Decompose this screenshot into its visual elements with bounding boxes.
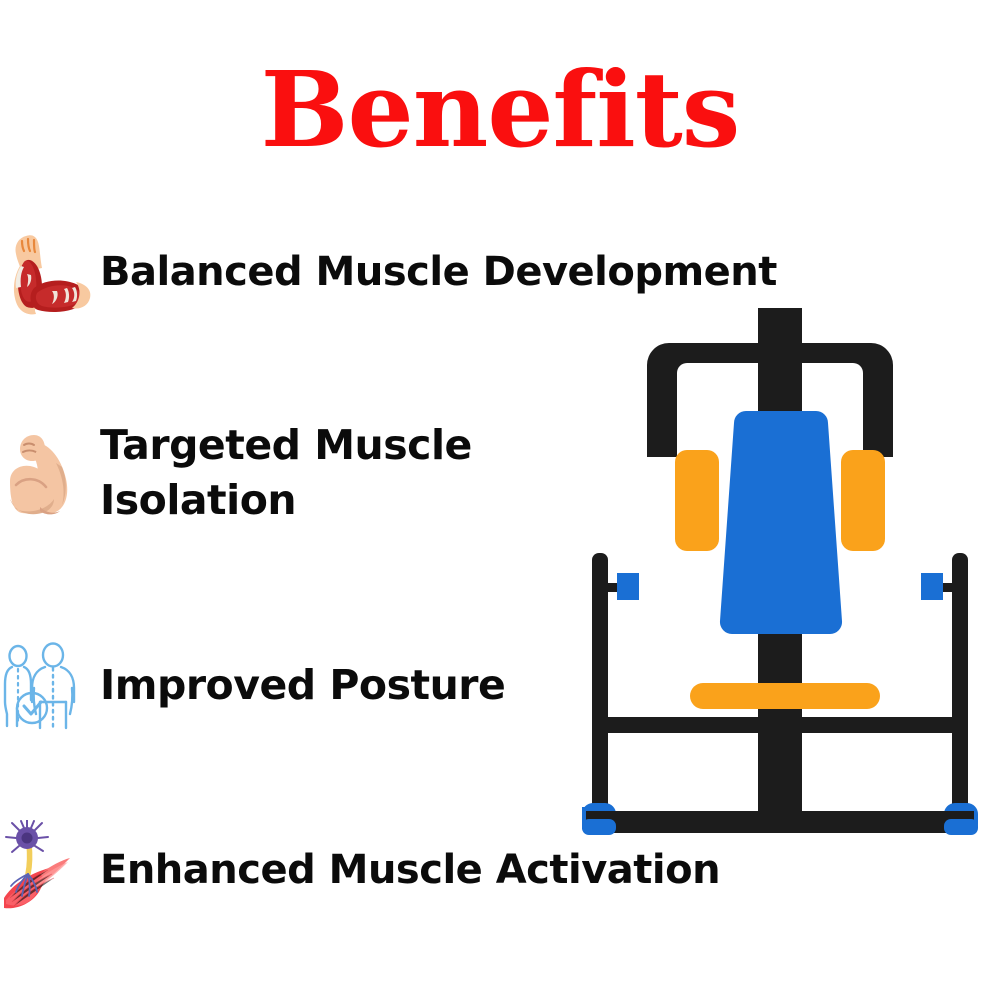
benefit-label: Targeted Muscle Isolation — [100, 418, 472, 529]
seated-row-gym-machine — [560, 295, 1000, 845]
machine-backrest-pad — [720, 411, 842, 634]
benefit-label: Balanced Muscle Development — [100, 251, 777, 293]
machine-left-peg — [617, 573, 639, 600]
flexed-biceps-icon — [0, 423, 100, 523]
benefit-label: Improved Posture — [100, 664, 505, 707]
machine-right-grip — [841, 450, 885, 551]
anatomical-arm-muscle-icon — [0, 222, 100, 322]
machine-right-peg — [921, 573, 943, 600]
benefit-label: Enhanced Muscle Activation — [100, 849, 720, 891]
machine-right-upright — [952, 553, 968, 818]
page-title: Benefits — [0, 58, 1000, 162]
benefit-item-targeted-muscle-isolation: Targeted Muscle Isolation — [0, 418, 472, 529]
infographic-canvas: Benefits — [0, 0, 1000, 1000]
benefit-item-improved-posture: Improved Posture — [0, 636, 505, 736]
machine-left-grip — [675, 450, 719, 551]
posture-figures-icon — [0, 636, 100, 736]
machine-left-upright — [592, 553, 608, 818]
neuromuscular-junction-icon — [0, 820, 100, 920]
machine-seat-bar — [690, 683, 880, 709]
